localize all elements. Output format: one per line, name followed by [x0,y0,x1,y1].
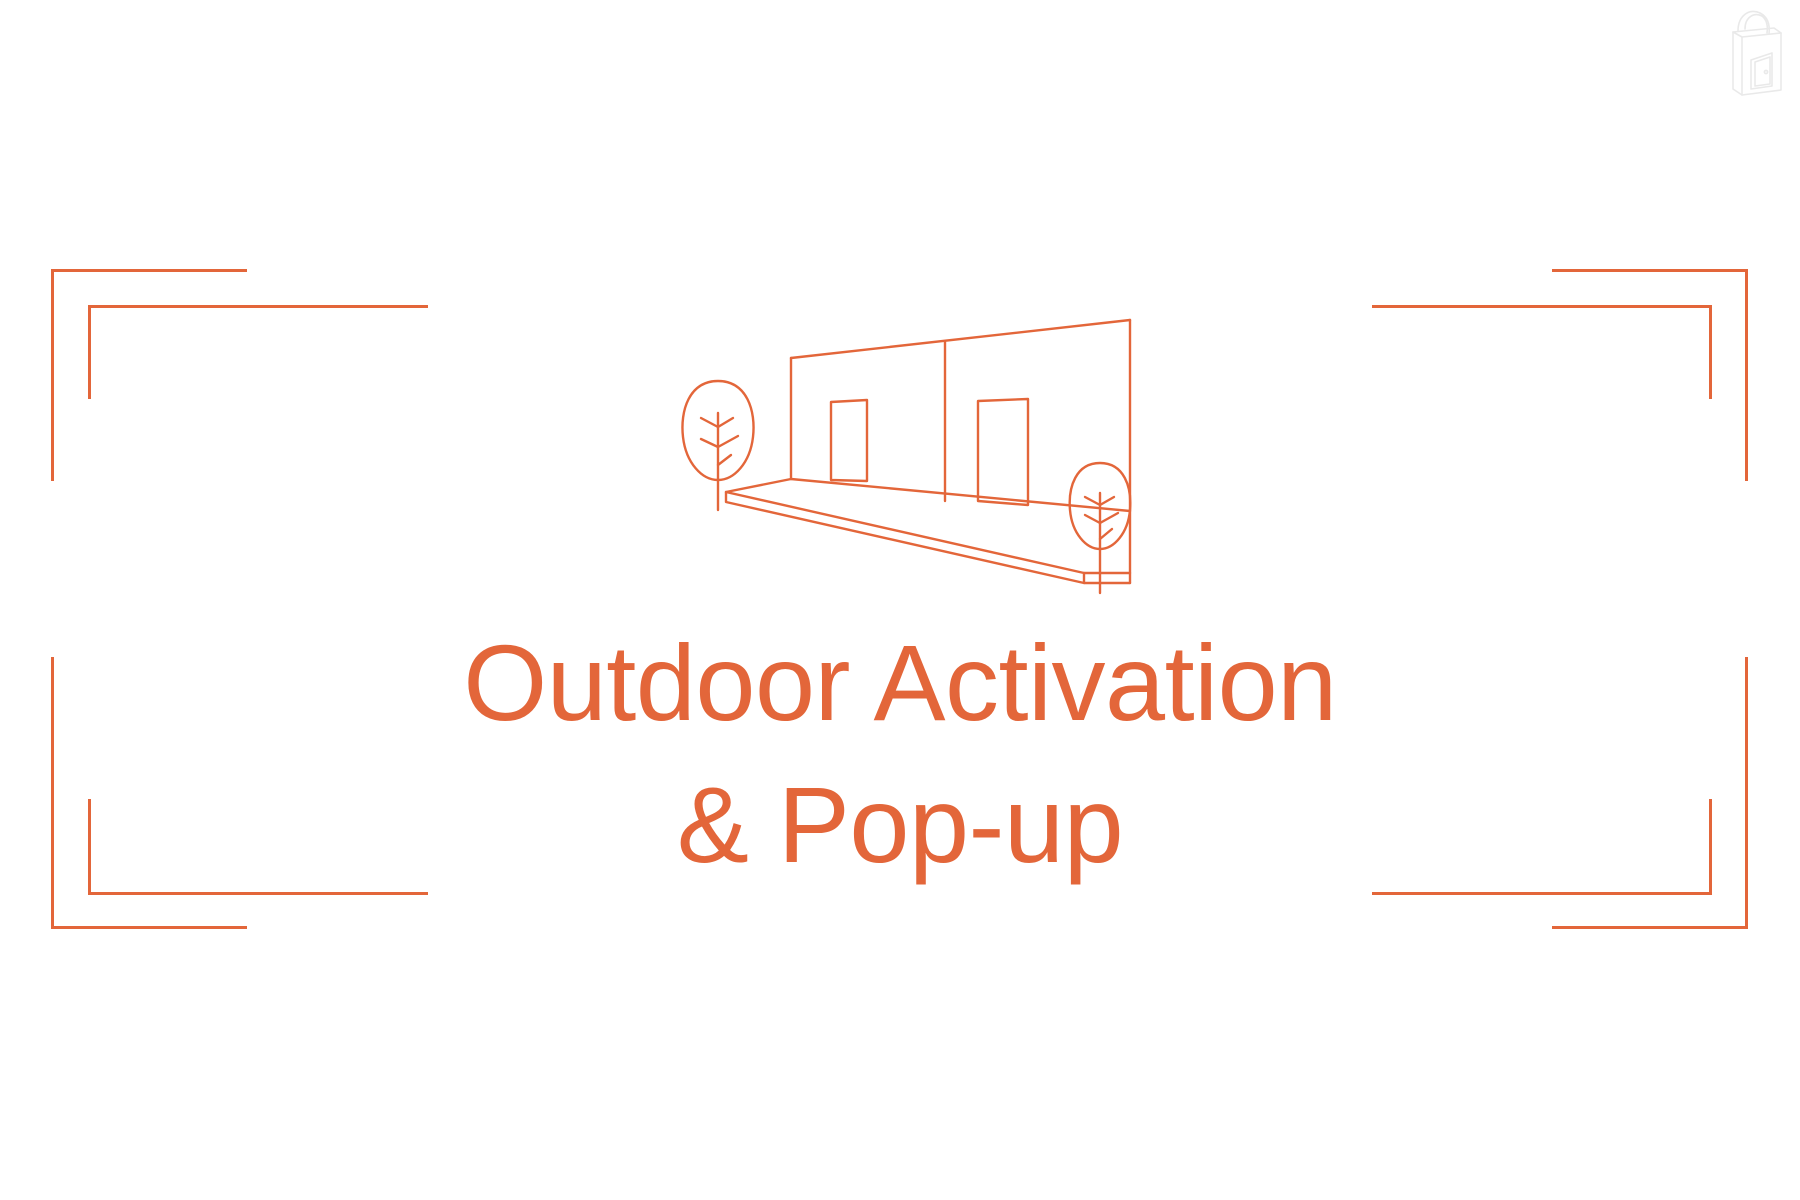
bracket-arm-vertical [51,269,54,481]
page-title: Outdoor Activation & Pop-up [0,612,1800,896]
bracket-arm-vertical [1709,305,1712,399]
bracket-arm-horizontal [1372,305,1712,308]
shopping-bag-with-door-logo [1712,4,1792,104]
title-line-2: & Pop-up [0,754,1800,896]
right-doorway [978,399,1028,505]
bracket-arm-horizontal [1552,269,1748,272]
title-line-1: Outdoor Activation [0,612,1800,754]
bracket-arm-horizontal [1552,926,1748,929]
outdoor-storefront-illustration [660,315,1140,615]
left-doorway [831,400,867,481]
bracket-arm-horizontal [51,269,247,272]
bracket-arm-vertical [88,305,91,399]
slide-canvas: Outdoor Activation & Pop-up [0,0,1800,1200]
bracket-arm-horizontal [88,305,428,308]
left-tree [682,381,753,510]
bracket-arm-horizontal [51,926,247,929]
bracket-arm-vertical [1745,269,1748,481]
facade-wall [791,320,1130,583]
